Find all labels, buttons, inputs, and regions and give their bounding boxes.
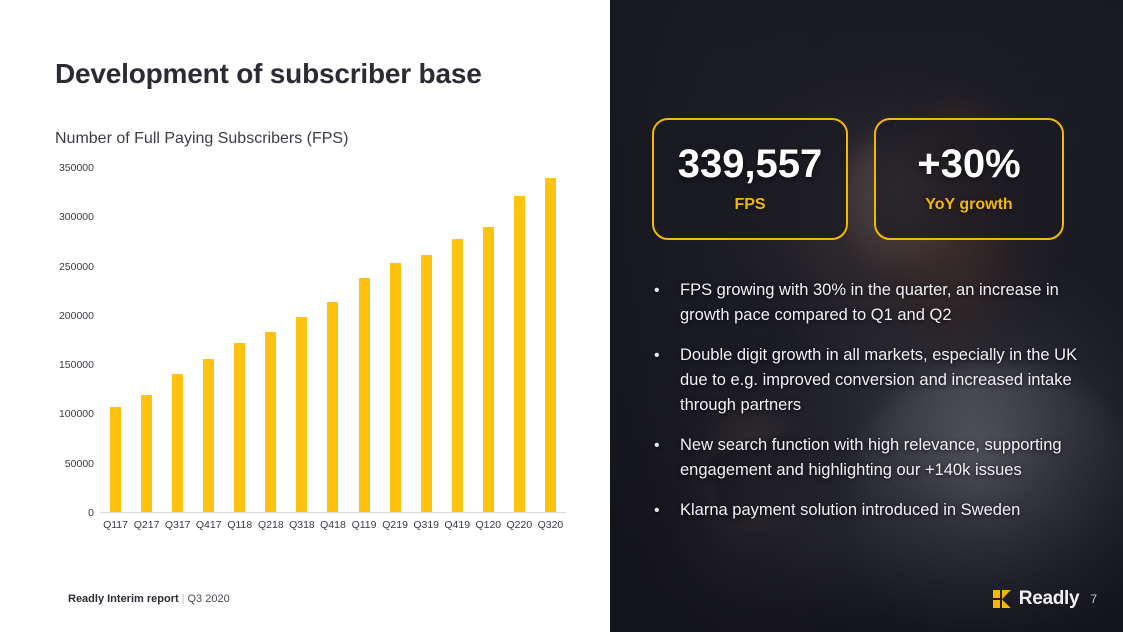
x-tick-label: Q320 [535, 519, 566, 537]
footer-period: Q3 2020 [188, 593, 230, 605]
bar-column[interactable] [224, 168, 255, 513]
bar-column[interactable] [535, 168, 566, 513]
x-tick-label: Q318 [286, 519, 317, 537]
bullet-marker-icon: • [650, 433, 680, 483]
bar[interactable] [141, 395, 152, 513]
left-panel: Development of subscriber base Number of… [0, 0, 610, 632]
y-axis-labels: 0500001000001500002000002500003000003500… [52, 160, 98, 555]
footer-report: Readly Interim report [68, 593, 179, 605]
x-axis-line [100, 512, 566, 513]
list-item: •Klarna payment solution introduced in S… [650, 498, 1090, 523]
x-tick-label: Q418 [317, 519, 348, 537]
slide: Development of subscriber base Number of… [0, 0, 1123, 632]
bar-column[interactable] [100, 168, 131, 513]
brand-footer: Readly 7 [993, 588, 1097, 610]
bar[interactable] [265, 332, 276, 513]
x-tick-label: Q317 [162, 519, 193, 537]
x-tick-label: Q419 [442, 519, 473, 537]
kpi-card: +30%YoY growth [874, 118, 1064, 240]
bar-column[interactable] [317, 168, 348, 513]
list-item: •New search function with high relevance… [650, 433, 1090, 483]
bar[interactable] [483, 227, 494, 513]
bar[interactable] [545, 178, 556, 513]
x-tick-label: Q217 [131, 519, 162, 537]
y-tick-label: 200000 [59, 310, 94, 322]
readly-wordmark: Readly [1019, 588, 1080, 610]
bar[interactable] [421, 255, 432, 513]
y-tick-label: 150000 [59, 359, 94, 371]
right-panel: 339,557FPS+30%YoY growth •FPS growing wi… [610, 0, 1123, 632]
subscriber-bar-chart: 0500001000001500002000002500003000003500… [52, 160, 582, 555]
x-tick-label: Q218 [255, 519, 286, 537]
bar-column[interactable] [473, 168, 504, 513]
y-tick-label: 50000 [65, 458, 94, 470]
x-tick-label: Q219 [380, 519, 411, 537]
highlights-list: •FPS growing with 30% in the quarter, an… [650, 278, 1090, 538]
bar[interactable] [172, 374, 183, 513]
bullet-marker-icon: • [650, 278, 680, 328]
x-tick-label: Q117 [100, 519, 131, 537]
x-tick-label: Q118 [224, 519, 255, 537]
bar-column[interactable] [442, 168, 473, 513]
bullet-text: Double digit growth in all markets, espe… [680, 343, 1090, 418]
bar[interactable] [327, 302, 338, 513]
y-tick-label: 350000 [59, 162, 94, 174]
bar[interactable] [514, 196, 525, 513]
readly-logo: Readly [993, 588, 1080, 610]
bar[interactable] [110, 407, 121, 513]
readly-mark-icon [993, 590, 1011, 608]
bar[interactable] [359, 278, 370, 513]
bar[interactable] [390, 263, 401, 513]
footer-separator: | [182, 593, 185, 605]
kpi-label: FPS [734, 196, 765, 214]
bar-column[interactable] [380, 168, 411, 513]
bar-column[interactable] [504, 168, 535, 513]
bar-column[interactable] [411, 168, 442, 513]
bullet-marker-icon: • [650, 498, 680, 523]
page-number: 7 [1090, 592, 1097, 606]
y-tick-label: 250000 [59, 261, 94, 273]
list-item: •FPS growing with 30% in the quarter, an… [650, 278, 1090, 328]
bar[interactable] [452, 239, 463, 513]
bar-column[interactable] [286, 168, 317, 513]
bar-series [100, 168, 566, 513]
bar[interactable] [203, 359, 214, 513]
chart-subtitle: Number of Full Paying Subscribers (FPS) [55, 130, 348, 148]
bullet-marker-icon: • [650, 343, 680, 418]
x-tick-label: Q220 [504, 519, 535, 537]
kpi-label: YoY growth [925, 196, 1012, 214]
chart-plot-area [100, 168, 566, 513]
kpi-value: +30% [917, 144, 1020, 184]
bar-column[interactable] [349, 168, 380, 513]
bar-column[interactable] [131, 168, 162, 513]
bar-column[interactable] [162, 168, 193, 513]
bullet-text: FPS growing with 30% in the quarter, an … [680, 278, 1090, 328]
x-tick-label: Q417 [193, 519, 224, 537]
kpi-value: 339,557 [678, 144, 823, 184]
bar-column[interactable] [193, 168, 224, 513]
x-tick-label: Q120 [473, 519, 504, 537]
bar-column[interactable] [255, 168, 286, 513]
y-tick-label: 300000 [59, 211, 94, 223]
kpi-card: 339,557FPS [652, 118, 848, 240]
x-tick-label: Q119 [349, 519, 380, 537]
bar[interactable] [296, 317, 307, 513]
kpi-group: 339,557FPS+30%YoY growth [652, 118, 1064, 240]
footer: Readly Interim report|Q3 2020 [68, 593, 230, 605]
page-title: Development of subscriber base [55, 58, 482, 90]
x-tick-label: Q319 [411, 519, 442, 537]
y-tick-label: 100000 [59, 408, 94, 420]
x-axis-labels: Q117Q217Q317Q417Q118Q218Q318Q418Q119Q219… [100, 519, 566, 537]
bar[interactable] [234, 343, 245, 513]
y-tick-label: 0 [88, 507, 94, 519]
list-item: •Double digit growth in all markets, esp… [650, 343, 1090, 418]
bullet-text: Klarna payment solution introduced in Sw… [680, 498, 1090, 523]
bullet-text: New search function with high relevance,… [680, 433, 1090, 483]
